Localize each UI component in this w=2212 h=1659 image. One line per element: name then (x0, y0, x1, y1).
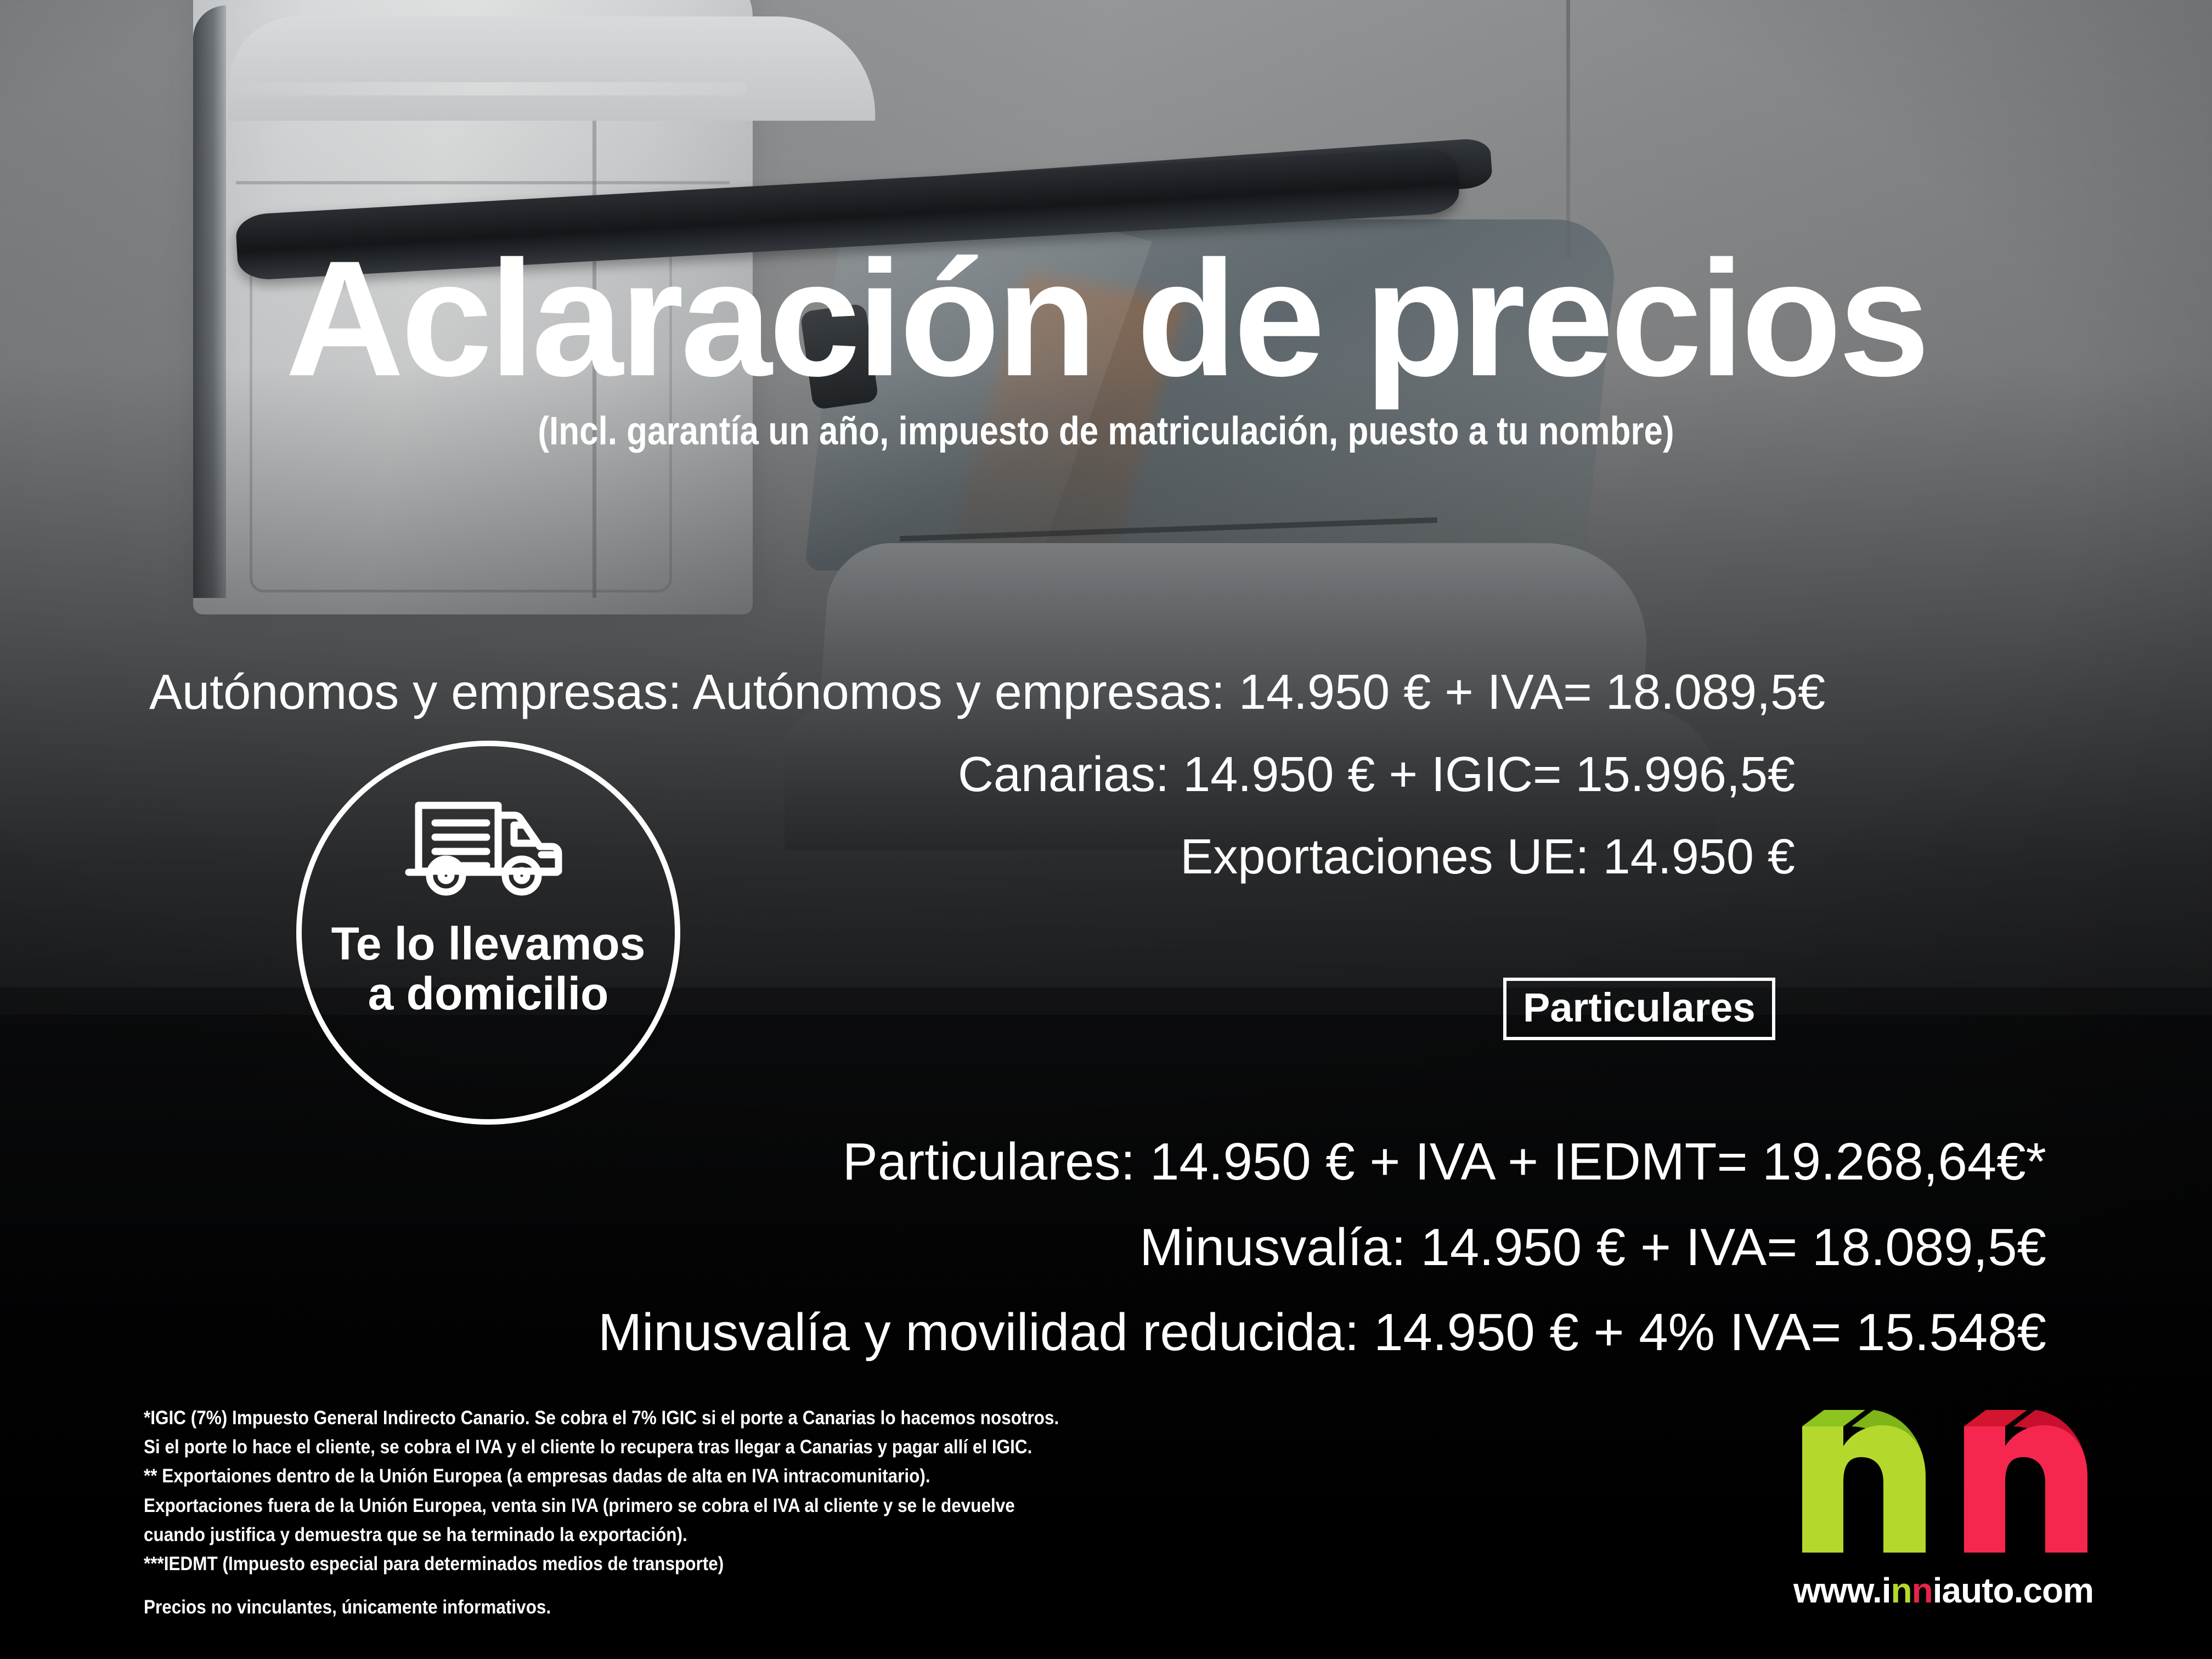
delivery-truck-icon (398, 789, 579, 907)
inniauto-logo[interactable]: www.inniauto.com (1791, 1393, 2175, 1651)
delivery-badge-text: Te lo llevamos a domicilio (331, 919, 646, 1018)
footnote-line-6: ***IEDMT (Impuesto especial para determi… (144, 1549, 1059, 1578)
logo-url[interactable]: www.inniauto.com (1793, 1570, 2093, 1611)
price-line-minusvalia: Minusvalía: 14.950 € + IVA= 18.089,5€ (99, 1205, 2046, 1290)
footnote-line-1: *IGIC (7%) Impuesto General Indirecto Ca… (144, 1403, 1059, 1432)
footnote-line-4: Exportaciones fuera de la Unión Europea,… (144, 1491, 1059, 1520)
home-delivery-badge: Te lo llevamos a domicilio (296, 741, 680, 1125)
footnote-line-2: Si el porte lo hace el cliente, se cobra… (144, 1432, 1059, 1462)
poster-content: Aclaración de precios (Incl. garantía un… (0, 0, 2212, 1659)
logo-url-n-red: n (1912, 1571, 1933, 1610)
delivery-badge-line1: Te lo llevamos (331, 919, 646, 969)
price-line-minusvalia-movilidad: Minusvalía y movilidad reducida: 14.950 … (99, 1290, 2046, 1375)
status-badge-particulares: Particulares (1503, 978, 1775, 1040)
page-subtitle: (Incl. garantía un año, impuesto de matr… (155, 411, 2057, 451)
delivery-badge-line2: a domicilio (331, 969, 646, 1019)
price-clarification-poster: Aclaración de precios (Incl. garantía un… (0, 0, 2212, 1659)
price-line-particulares: Particulares: 14.950 € + IVA + IEDMT= 19… (99, 1119, 2046, 1205)
page-title: Aclaración de precios (0, 236, 2212, 400)
logo-url-n-green: n (1891, 1571, 1912, 1610)
logo-url-suffix: iauto.com (1933, 1571, 2093, 1610)
footnotes: *IGIC (7%) Impuesto General Indirecto Ca… (144, 1403, 1059, 1622)
logo-url-prefix: www.i (1793, 1571, 1891, 1610)
footnote-line-3: ** Exportaiones dentro de la Unión Europ… (144, 1462, 1059, 1491)
footnote-disclaimer: Precios no vinculantes, únicamente infor… (144, 1593, 1059, 1622)
footnote-spacer (144, 1578, 1059, 1593)
footnote-line-5: cuando justifica y demuestra que se ha t… (144, 1520, 1059, 1549)
price-line-autonomos: Autónomos y empresas: Autónomos y empres… (149, 653, 1795, 733)
private-price-list: Particulares: 14.950 € + IVA + IEDMT= 19… (99, 1119, 2046, 1375)
nn-logomark-icon (1791, 1393, 2098, 1558)
